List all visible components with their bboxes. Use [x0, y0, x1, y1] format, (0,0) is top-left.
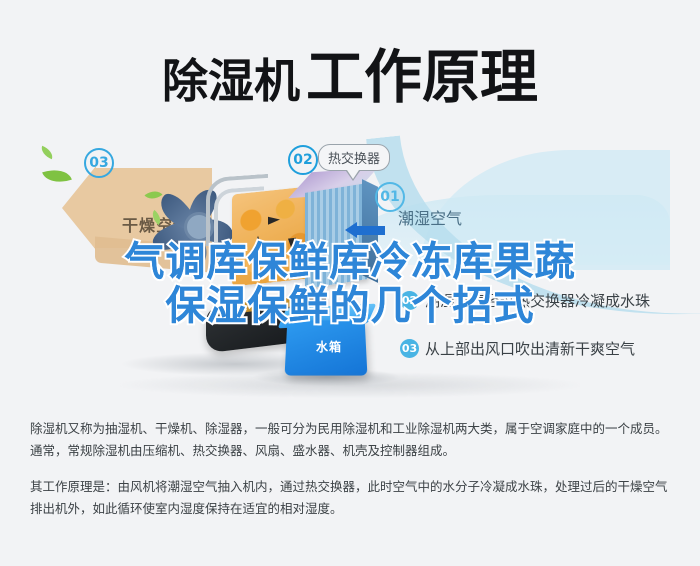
step-03-badge: 03 — [400, 339, 419, 358]
leaf-icon — [39, 146, 55, 160]
hero-title-big: 工作原理 — [306, 43, 538, 111]
badge-03: 03 — [84, 148, 114, 178]
water-tank-label: 水箱 — [316, 338, 342, 355]
article-paragraph-1: 除湿机又称为抽湿机、干燥机、除湿器，一般可分为民用除湿机和工业除湿机两大类，属于… — [30, 418, 676, 462]
moist-air-label: 潮湿空气 — [398, 205, 462, 229]
hero-illustration: 除湿机工作原理 干燥空气 — [0, 0, 700, 400]
step-03-text: 从上部出风口吹出清新干爽空气 — [425, 340, 635, 358]
heat-exchanger-callout: 热交换器 — [318, 144, 390, 171]
step-02-badge: 02 — [400, 291, 419, 310]
hero-bottom-fade — [120, 372, 580, 398]
article-body: 除湿机又称为抽湿机、干燥机、除湿器，一般可分为民用除湿机和工业除湿机两大类，属于… — [30, 418, 676, 534]
hero-title: 除湿机工作原理 — [0, 30, 700, 114]
intake-arrow-icon — [345, 222, 385, 238]
article-paragraph-2: 其工作原理是：由风机将潮湿空气抽入机内，通过热交换器，此时空气中的水分子冷凝成水… — [30, 476, 676, 520]
badge-02: 02 — [288, 145, 318, 175]
page-root: 除湿机工作原理 干燥空气 — [0, 0, 700, 566]
hero-title-small: 除湿机 — [162, 54, 300, 108]
step-02: 02潮湿空气经过热交换器冷凝成水珠 — [400, 290, 650, 311]
step-02-text: 潮湿空气经过热交换器冷凝成水珠 — [425, 292, 650, 310]
step-03: 03从上部出风口吹出清新干爽空气 — [400, 338, 635, 359]
